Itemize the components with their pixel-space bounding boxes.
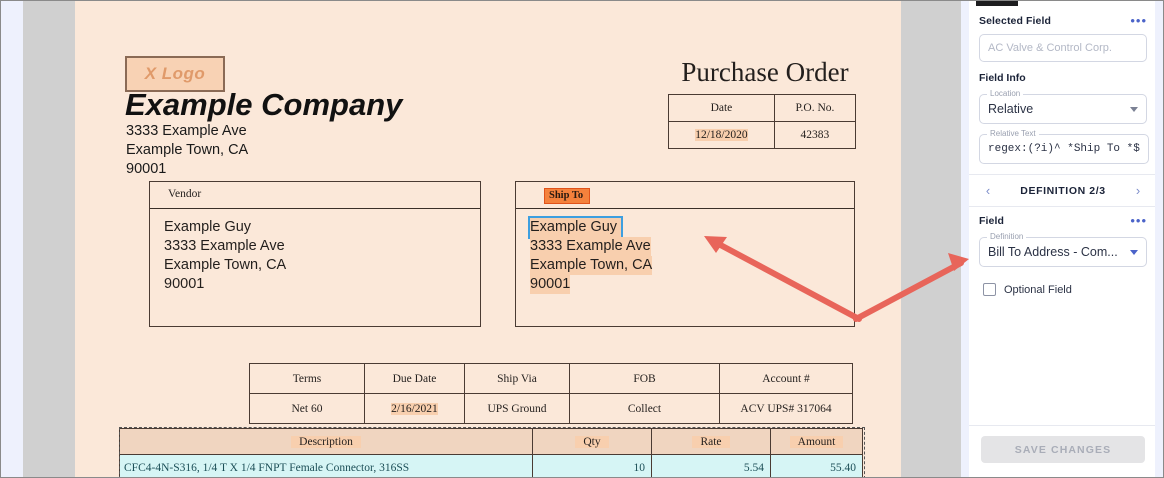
line-items-table: Description Qty Rate Amount CFC4-4N-S316… (119, 428, 863, 478)
chevron-down-icon[interactable] (1130, 107, 1138, 112)
chevron-left-icon[interactable]: ‹ (981, 183, 995, 198)
right-gray-gutter (901, 1, 961, 477)
field-info-title: Field Info (979, 72, 1147, 84)
po-date-header: Date (669, 95, 775, 122)
relative-text-row: Relative Text regex:(?i)^ *Ship To *$ (979, 124, 1147, 164)
ship-to-line-selected[interactable]: Example Guy (530, 218, 621, 237)
selected-field-value: AC Valve & Control Corp. (988, 42, 1112, 54)
vendor-line: Example Guy (164, 218, 251, 237)
description-header-cell: Description (120, 429, 533, 455)
po-date-highlight: 12/18/2020 (695, 129, 747, 141)
relative-text-input[interactable]: Relative Text regex:(?i)^ *Ship To *$ (979, 134, 1149, 164)
fob-value[interactable]: Collect (570, 394, 720, 424)
company-address-line: Example Town, CA (126, 141, 248, 160)
ship-to-line[interactable]: 3333 Example Ave (530, 237, 651, 256)
document-preview[interactable]: X Logo Example Company 3333 Example Ave … (75, 1, 901, 478)
field-definition-panel: Selected Field ••• AC Valve & Control Co… (969, 7, 1157, 475)
relative-text-label: Relative Text (987, 129, 1039, 138)
ship-to-address: Example Guy 3333 Example Ave Example Tow… (516, 209, 854, 294)
vendor-address: Example Guy 3333 Example Ave Example Tow… (150, 209, 480, 294)
vendor-line: 90001 (164, 275, 204, 294)
definition-label: Definition (987, 232, 1026, 241)
rate-header-cell: Rate (652, 429, 771, 455)
document-title: Purchase Order (635, 57, 895, 88)
ship-to-box-header: Ship To (516, 182, 854, 209)
location-value: Relative (988, 102, 1124, 116)
fob-header: FOB (570, 364, 720, 394)
ship-to-box: Ship To Example Guy 3333 Example Ave Exa… (515, 181, 855, 327)
table-row[interactable]: CFC4-4N-S316, 1/4 T X 1/4 FNPT Female Co… (120, 455, 863, 478)
overflow-dots-icon[interactable]: ••• (1130, 217, 1147, 225)
right-lavender-rail (961, 1, 969, 477)
table-row: Date P.O. No. (669, 95, 856, 122)
left-lavender-rail (1, 1, 23, 477)
definition-counter: DEFINITION 2/3 (1020, 185, 1105, 197)
field-header: Field ••• (979, 215, 1147, 227)
po-number-value[interactable]: 42383 (774, 122, 855, 149)
vendor-line: 3333 Example Ave (164, 237, 285, 256)
ship-to-anchor-highlight[interactable]: Ship To (544, 188, 590, 204)
amount-header-cell: Amount (771, 429, 863, 455)
definition-value: Bill To Address - Com... (988, 245, 1124, 259)
company-address-line: 3333 Example Ave (126, 122, 248, 141)
ship-to-line[interactable]: 90001 (530, 275, 570, 294)
left-gray-gutter (23, 1, 75, 477)
optional-field-row[interactable]: Optional Field (979, 283, 1147, 296)
selected-field-title: Selected Field (979, 15, 1051, 27)
selected-field-card: Selected Field ••• AC Valve & Control Co… (969, 7, 1157, 175)
save-changes-button[interactable]: SAVE CHANGES (981, 436, 1145, 463)
company-address: 3333 Example Ave Example Town, CA 90001 (126, 122, 248, 179)
location-label: Location (987, 89, 1023, 98)
terms-table: Terms Due Date Ship Via FOB Account # Ne… (249, 363, 853, 424)
item-description[interactable]: CFC4-4N-S316, 1/4 T X 1/4 FNPT Female Co… (120, 455, 533, 478)
panel-top-handle (976, 1, 1018, 6)
far-right-rail (1155, 1, 1163, 477)
logo-label: X Logo (145, 64, 206, 84)
company-name: Example Company (125, 87, 402, 123)
amount-header: Amount (790, 436, 844, 448)
relative-text-value: regex:(?i)^ *Ship To *$ (988, 143, 1140, 155)
ship-via-value[interactable]: UPS Ground (465, 394, 570, 424)
due-date-header: Due Date (365, 364, 465, 394)
vendor-box: Vendor Example Guy 3333 Example Ave Exam… (149, 181, 481, 327)
table-header-row: Description Qty Rate Amount (120, 429, 863, 455)
item-amount[interactable]: 55.40 (771, 455, 863, 478)
field-card: Field ••• Definition Bill To Address - C… (969, 207, 1157, 306)
chevron-down-icon[interactable] (1130, 250, 1138, 255)
table-row: Terms Due Date Ship Via FOB Account # (250, 364, 853, 394)
item-qty[interactable]: 10 (533, 455, 652, 478)
definition-navigator: ‹ DEFINITION 2/3 › (969, 175, 1157, 207)
table-row: Net 60 2/16/2021 UPS Ground Collect ACV … (250, 394, 853, 424)
optional-field-checkbox[interactable] (983, 283, 996, 296)
description-header: Description (291, 436, 361, 448)
ship-to-line[interactable]: Example Town, CA (530, 256, 652, 275)
due-date-value[interactable]: 2/16/2021 (365, 394, 465, 424)
selected-field-header: Selected Field ••• (979, 15, 1147, 27)
qty-header: Qty (575, 436, 608, 448)
vendor-box-header: Vendor (150, 182, 480, 209)
po-date-value[interactable]: 12/18/2020 (669, 122, 775, 149)
ship-via-header: Ship Via (465, 364, 570, 394)
definition-select[interactable]: Definition Bill To Address - Com... (979, 237, 1147, 267)
po-meta-table: Date P.O. No. 12/18/2020 42383 (668, 94, 856, 149)
company-address-line: 90001 (126, 160, 248, 179)
app-window: X Logo Example Company 3333 Example Ave … (0, 0, 1164, 478)
field-title: Field (979, 215, 1004, 227)
terms-header: Terms (250, 364, 365, 394)
terms-value[interactable]: Net 60 (250, 394, 365, 424)
po-number-header: P.O. No. (774, 95, 855, 122)
location-select[interactable]: Location Relative (979, 94, 1147, 124)
panel-footer: SAVE CHANGES (969, 425, 1157, 475)
vendor-label: Vendor (168, 188, 201, 200)
item-rate[interactable]: 5.54 (652, 455, 771, 478)
qty-header-cell: Qty (533, 429, 652, 455)
optional-field-label: Optional Field (1004, 284, 1072, 296)
table-row: 12/18/2020 42383 (669, 122, 856, 149)
rate-header: Rate (692, 436, 729, 448)
due-date-highlight: 2/16/2021 (391, 403, 438, 415)
overflow-dots-icon[interactable]: ••• (1130, 17, 1147, 25)
account-header: Account # (720, 364, 853, 394)
account-value[interactable]: ACV UPS# 317064 (720, 394, 853, 424)
selected-field-value-input[interactable]: AC Valve & Control Corp. (979, 34, 1147, 62)
vendor-line: Example Town, CA (164, 256, 286, 275)
chevron-right-icon[interactable]: › (1131, 183, 1145, 198)
